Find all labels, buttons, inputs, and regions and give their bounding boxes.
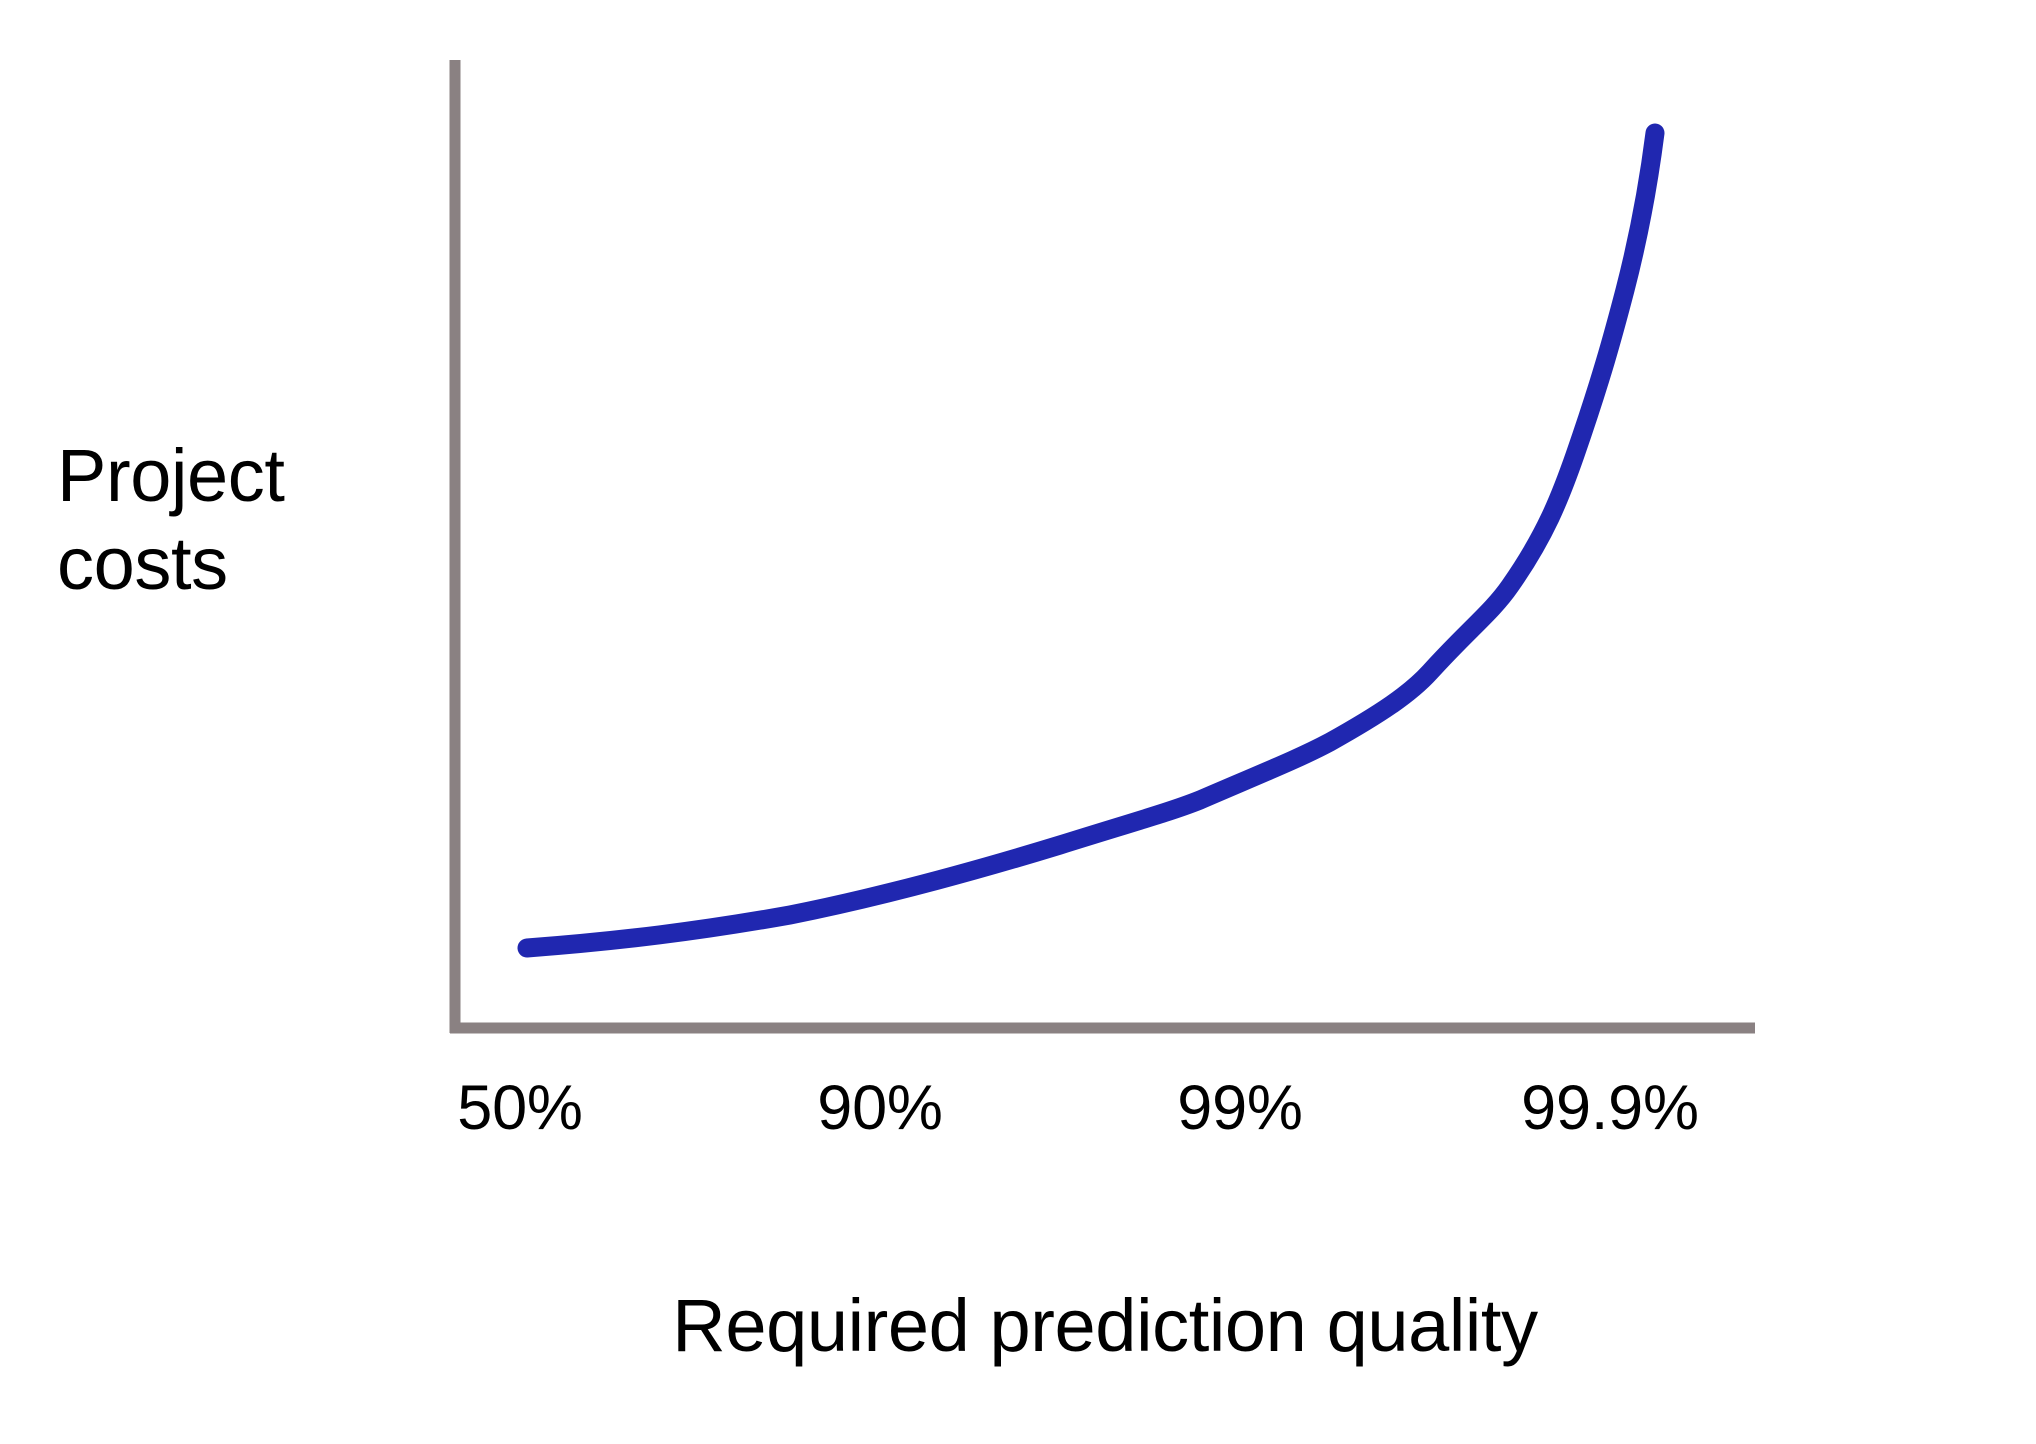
x-tick-label-99: 99%	[1177, 1068, 1303, 1148]
cost-curve-line	[527, 133, 1655, 948]
x-tick-label-99-9: 99.9%	[1521, 1068, 1699, 1148]
x-tick-label-90: 90%	[817, 1068, 943, 1148]
x-axis-title: Required prediction quality	[450, 1282, 1760, 1370]
x-tick-label-50: 50%	[457, 1068, 583, 1148]
chart-figure: Project costs 50% 90% 99% 99.9% Required…	[0, 0, 2036, 1444]
plot-area	[0, 0, 2036, 1444]
y-axis-title: Project costs	[57, 432, 417, 608]
x-axis-tick-labels: 50% 90% 99% 99.9%	[450, 1068, 1760, 1148]
